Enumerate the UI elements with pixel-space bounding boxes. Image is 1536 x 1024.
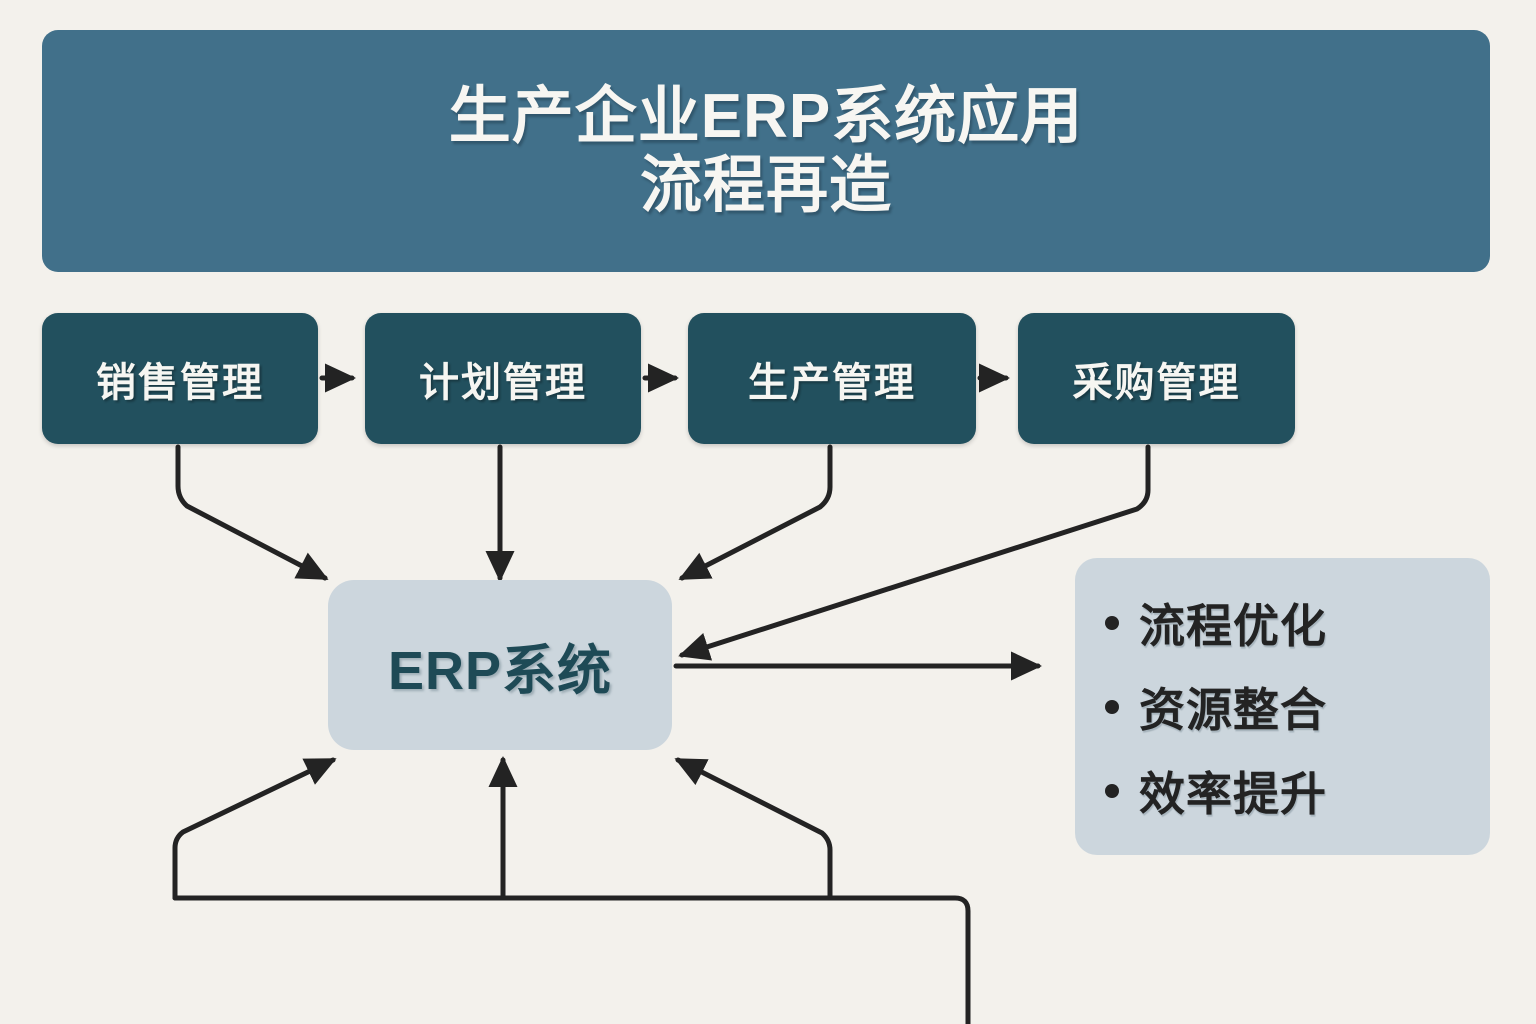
- process-node-label: 采购管理: [1073, 350, 1241, 408]
- benefit-list-item: 流程优化: [1105, 590, 1490, 656]
- arrow-sales-to-erp: [178, 447, 325, 578]
- erp-system-node[interactable]: ERP系统: [328, 580, 672, 750]
- process-node-label: 计划管理: [419, 350, 587, 408]
- benefits-panel: 流程优化 资源整合 效率提升: [1075, 558, 1490, 855]
- benefit-label: 资源整合: [1139, 674, 1327, 740]
- feedback-bus-left-riser: [175, 760, 333, 898]
- benefit-list-item: 效率提升: [1105, 758, 1490, 824]
- feedback-bus-horizontal: [175, 898, 968, 1024]
- bullet-icon: [1105, 700, 1119, 714]
- page-title-line-1: 生产企业ERP系统应用: [449, 82, 1083, 151]
- benefit-list-item: 资源整合: [1105, 674, 1490, 740]
- feedback-bus-right-riser: [678, 760, 830, 898]
- title-banner: 生产企业ERP系统应用 流程再造: [42, 30, 1490, 272]
- bullet-icon: [1105, 784, 1119, 798]
- process-node-purchasing[interactable]: 采购管理: [1018, 313, 1295, 444]
- diagram-canvas: 生产企业ERP系统应用 流程再造 销售管理 计划管理 生产管理 采购管理 ERP…: [0, 0, 1536, 1024]
- benefit-label: 流程优化: [1139, 590, 1327, 656]
- bullet-icon: [1105, 616, 1119, 630]
- process-node-planning[interactable]: 计划管理: [365, 313, 641, 444]
- erp-system-label: ERP系统: [388, 626, 612, 705]
- process-node-label: 生产管理: [748, 350, 916, 408]
- page-title-line-2: 流程再造: [640, 151, 892, 220]
- process-node-sales[interactable]: 销售管理: [42, 313, 318, 444]
- arrow-production-to-erp: [682, 447, 830, 578]
- process-node-production[interactable]: 生产管理: [688, 313, 976, 444]
- process-node-label: 销售管理: [96, 350, 264, 408]
- benefit-label: 效率提升: [1139, 758, 1327, 824]
